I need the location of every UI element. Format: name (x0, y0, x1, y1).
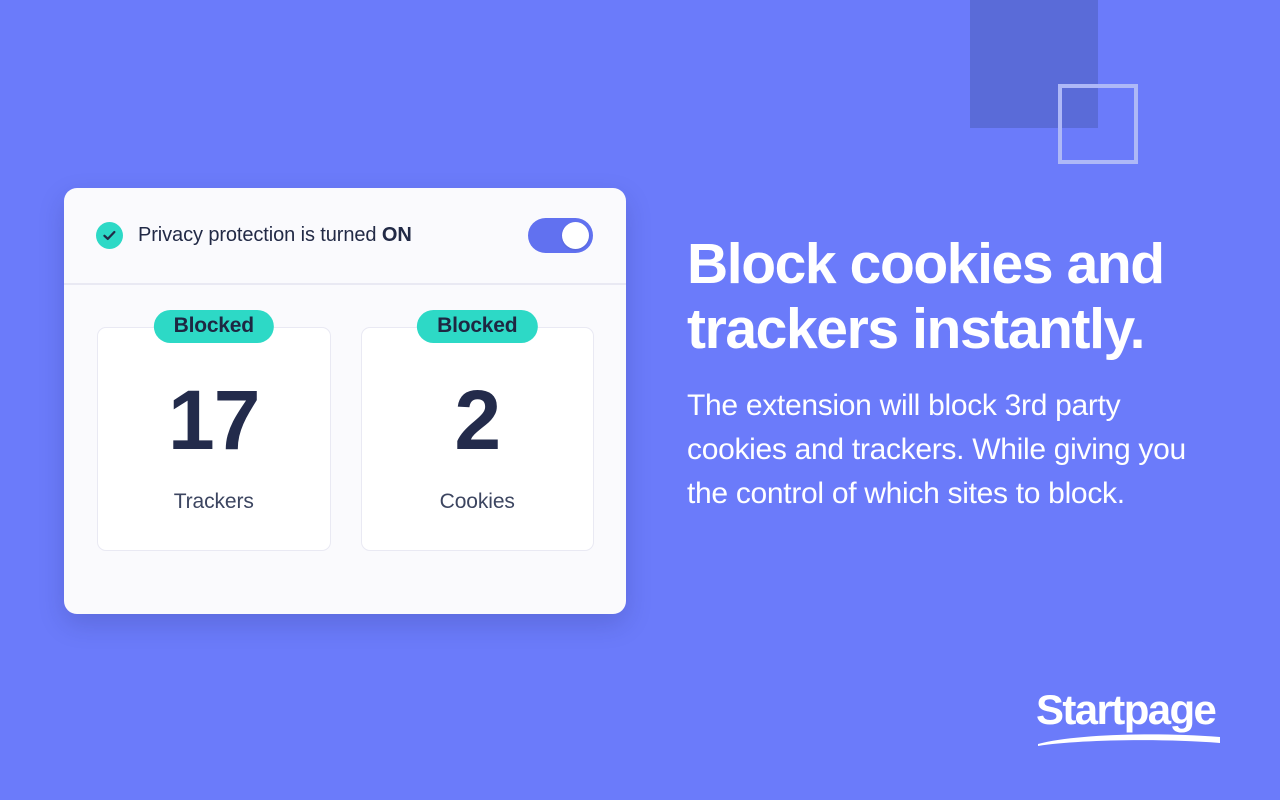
popup-header: Privacy protection is turned ON (64, 188, 626, 285)
logo-swoosh-icon (1036, 732, 1222, 746)
stat-label: Cookies (440, 490, 515, 514)
stats-row: Blocked 17 Trackers Blocked 2 Cookies (64, 285, 626, 551)
page-description: The extension will block 3rd party cooki… (687, 384, 1212, 516)
startpage-logo[interactable]: Startpage (1036, 689, 1222, 746)
stat-value: 17 (168, 378, 259, 462)
stat-label: Trackers (174, 490, 254, 514)
logo-wordmark: Startpage (1036, 689, 1215, 731)
page-title: Block cookies and trackers instantly. (687, 232, 1227, 362)
toggle-knob (562, 222, 589, 249)
stat-card-trackers[interactable]: Blocked 17 Trackers (97, 327, 331, 551)
check-circle-icon (96, 222, 123, 249)
status-badge: Blocked (154, 310, 274, 343)
stat-value: 2 (454, 378, 500, 462)
privacy-status-prefix: Privacy protection is turned (138, 224, 382, 246)
extension-popup-card: Privacy protection is turned ON Blocked … (64, 188, 626, 614)
privacy-status-text: Privacy protection is turned ON (138, 224, 412, 247)
decorative-outlined-square (1058, 84, 1138, 164)
stat-card-cookies[interactable]: Blocked 2 Cookies (361, 327, 595, 551)
privacy-status-emphasis: ON (382, 224, 412, 246)
privacy-protection-toggle[interactable] (528, 218, 593, 253)
status-badge: Blocked (417, 310, 537, 343)
marketing-copy: Block cookies and trackers instantly. Th… (687, 232, 1227, 516)
